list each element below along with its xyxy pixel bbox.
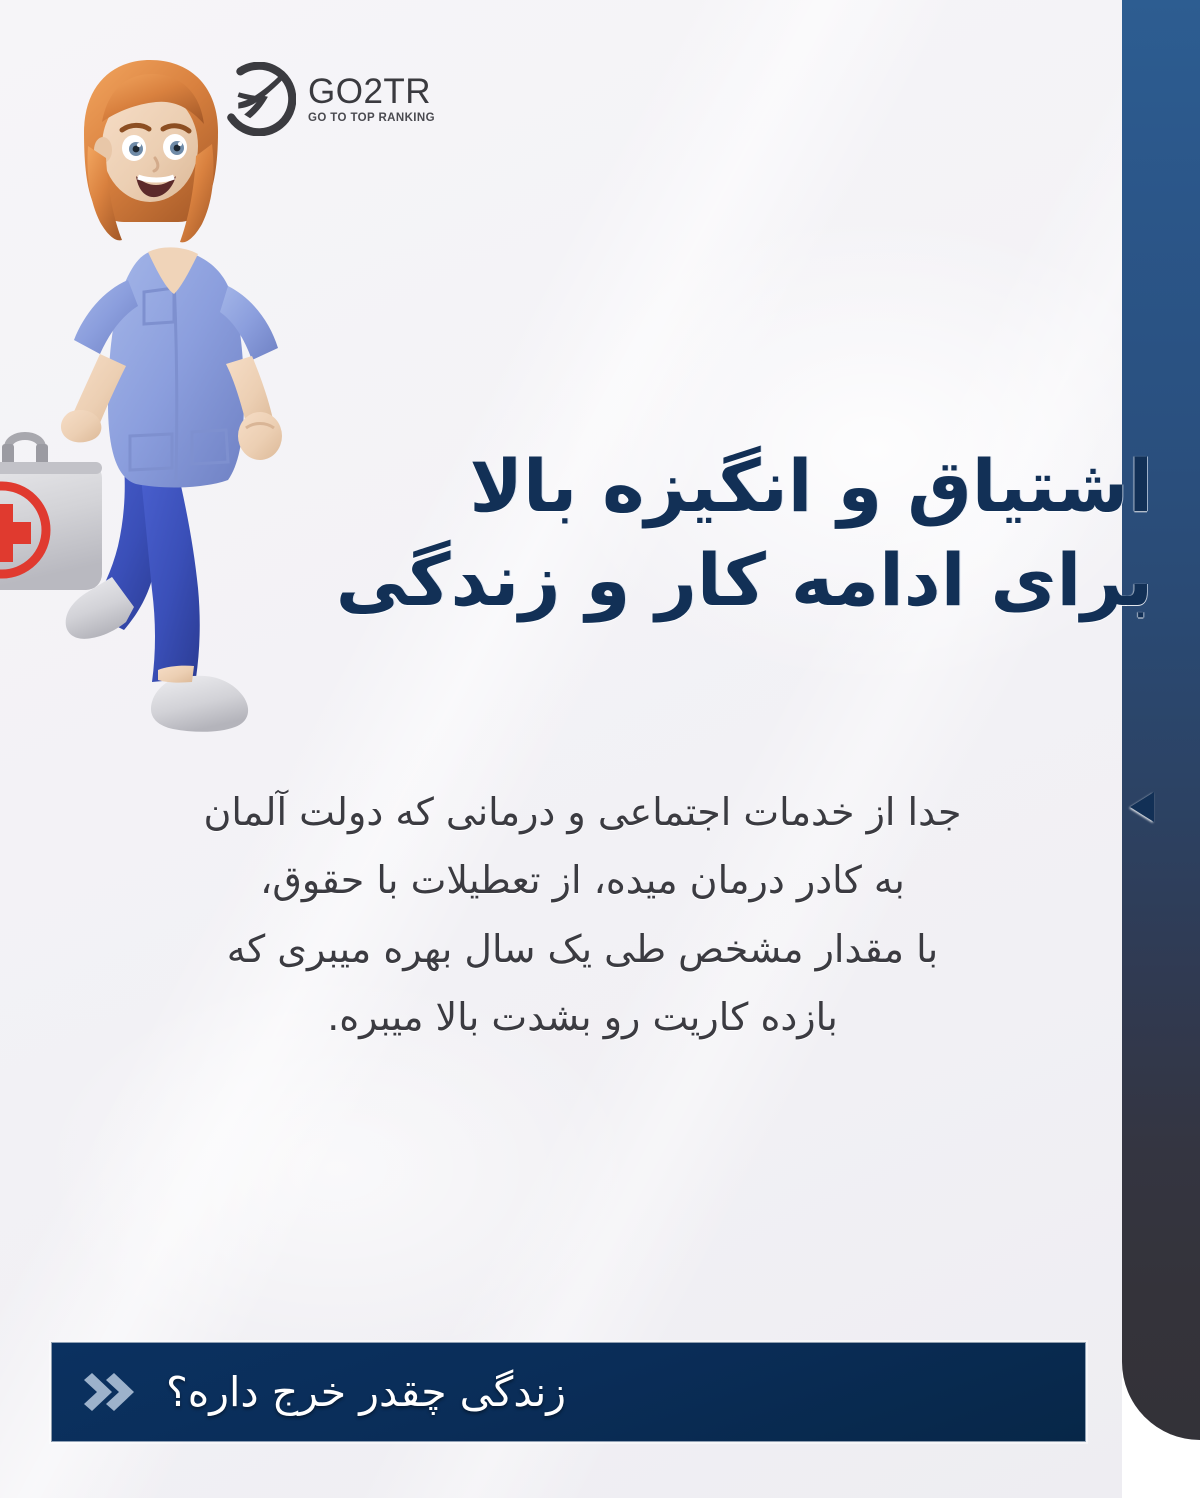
brand-logo[interactable]: GO2TR GO TO TOP RANKING [222,62,435,136]
body-line-4: بازده کاریت رو بشدت بالا میبره. [58,983,1107,1051]
body-line-2: به کادر درمان میده، از تعطیلات با حقوق، [58,846,1107,914]
body-paragraph: جدا از خدمات اجتماعی و درمانی که دولت آل… [58,778,1107,1052]
brand-name: GO2TR [308,74,435,109]
brand-tagline: GO TO TOP RANKING [308,113,435,125]
body-paragraph-block: جدا از خدمات اجتماعی و درمانی که دولت آل… [58,778,1153,1052]
infographic-slide: GO2TR GO TO TOP RANKING [0,0,1200,1498]
headline-line-1: اشتیاق و انگیزه بالا [433,440,1153,534]
double-chevron-left-icon [80,1369,144,1415]
body-line-3: با مقدار مشخص طی یک سال بهره میبری که [58,915,1107,983]
nurse-character-3d [0,36,360,776]
go2tr-swoosh-circle-icon [222,62,296,136]
cta-banner[interactable]: زندگی چقدر خرج داره؟ [51,1342,1086,1442]
body-line-1: جدا از خدمات اجتماعی و درمانی که دولت آل… [58,778,1107,846]
headline-line-2: برای ادامه کار و زندگی [433,534,1153,628]
cta-label: زندگی چقدر خرج داره؟ [166,1368,566,1416]
right-accent-strip [1122,0,1200,1440]
headline: اشتیاق و انگیزه بالا برای ادامه کار و زن… [433,440,1153,627]
triangle-left-icon [1130,792,1154,822]
